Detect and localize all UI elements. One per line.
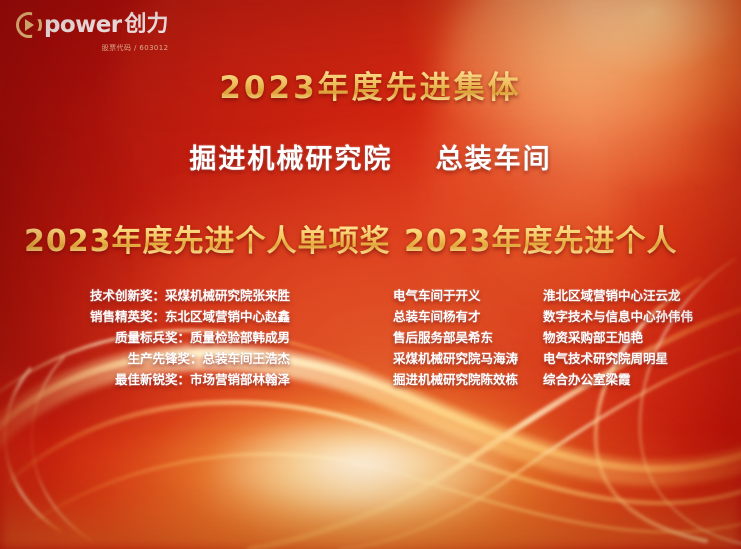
collective-winners: 掘进机械研究院 总装车间: [0, 137, 741, 176]
collective-name-2: 总装车间: [436, 144, 552, 175]
list-item-col2: 物资采购部王旭艳: [543, 327, 723, 348]
list-item-col2: 综合办公室梁霞: [543, 369, 723, 390]
list-item-col1: 掘进机械研究院陈效栋: [393, 369, 543, 390]
list-item: 采煤机械研究院马海涛 电气技术研究院周明星: [393, 348, 723, 369]
advanced-individuals-list: 电气车间于开义 淮北区域营销中心汪云龙 总装车间杨有才 数字技术与信息中心孙伟伟…: [393, 285, 723, 390]
section-heading-special-awards: 2023年度先进个人单项奖: [24, 216, 391, 260]
list-item-col1: 总装车间杨有才: [393, 306, 543, 327]
logo-brand-cn: 创力: [124, 14, 168, 36]
power-c-arrow-icon: [16, 12, 42, 38]
list-item: 掘进机械研究院陈效栋 综合办公室梁霞: [393, 369, 723, 390]
list-item: 售后服务部吴希东 物资采购部王旭艳: [393, 327, 723, 348]
list-item-col2: 数字技术与信息中心孙伟伟: [543, 306, 723, 327]
company-logo: power 创力 股票代码 / 603012: [16, 12, 168, 53]
special-awards-list: 技术创新奖：采煤机械研究院张来胜 销售精英奖：东北区域营销中心赵鑫 质量标兵奖：…: [58, 285, 308, 390]
list-item: 生产先锋奖：总装车间王浩杰: [58, 348, 290, 369]
list-item-col1: 电气车间于开义: [393, 285, 543, 306]
logo-stock-code: 股票代码 / 603012: [16, 43, 168, 53]
list-item-col2: 淮北区域营销中心汪云龙: [543, 285, 723, 306]
list-item: 技术创新奖：采煤机械研究院张来胜: [58, 285, 290, 306]
list-item: 总装车间杨有才 数字技术与信息中心孙伟伟: [393, 306, 723, 327]
award-poster: power 创力 股票代码 / 603012 2023年度先进集体 掘进机械研究…: [0, 0, 741, 549]
list-item-col1: 采煤机械研究院马海涛: [393, 348, 543, 369]
list-item-col1: 售后服务部吴希东: [393, 327, 543, 348]
logo-brand-en: power: [44, 14, 121, 37]
list-item: 质量标兵奖：质量检验部韩成男: [58, 327, 290, 348]
section-heading-advanced-individuals: 2023年度先进个人: [404, 216, 678, 260]
list-item-col2: 电气技术研究院周明星: [543, 348, 723, 369]
page-title: 2023年度先进集体: [0, 62, 741, 107]
list-item: 电气车间于开义 淮北区域营销中心汪云龙: [393, 285, 723, 306]
list-item: 销售精英奖：东北区域营销中心赵鑫: [58, 306, 290, 327]
list-item: 最佳新锐奖：市场营销部林翰泽: [58, 369, 290, 390]
section-heading-row: 2023年度先进个人单项奖 2023年度先进个人: [0, 216, 741, 262]
collective-name-1: 掘进机械研究院: [189, 144, 392, 175]
